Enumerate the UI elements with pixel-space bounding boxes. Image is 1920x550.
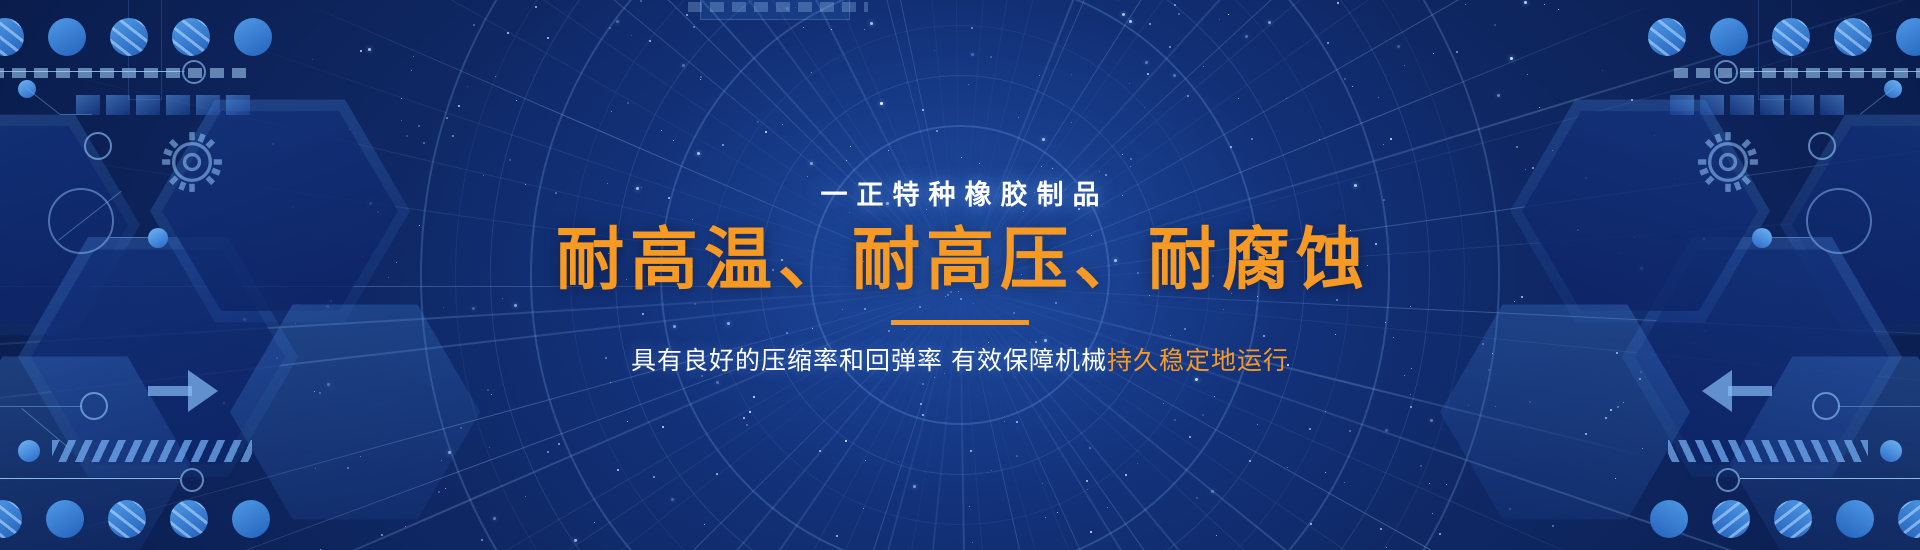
headline-divider xyxy=(891,320,1029,325)
banner-content: 一正特种橡胶制品 耐高温、耐高压、耐腐蚀 具有良好的压缩率和回弹率 有效保障机械… xyxy=(0,0,1920,550)
banner-headline: 耐高温、耐高压、耐腐蚀 xyxy=(550,224,1370,297)
banner-subtitle: 具有良好的压缩率和回弹率 有效保障机械持久稳定地运行 xyxy=(631,341,1289,377)
subtitle-white-text: 具有良好的压缩率和回弹率 有效保障机械 xyxy=(631,347,1107,375)
subtitle-orange-text: 持久稳定地运行 xyxy=(1107,347,1289,375)
hero-banner: 一正特种橡胶制品 耐高温、耐高压、耐腐蚀 具有良好的压缩率和回弹率 有效保障机械… xyxy=(0,0,1920,550)
banner-eyebrow: 一正特种橡胶制品 xyxy=(812,173,1109,212)
